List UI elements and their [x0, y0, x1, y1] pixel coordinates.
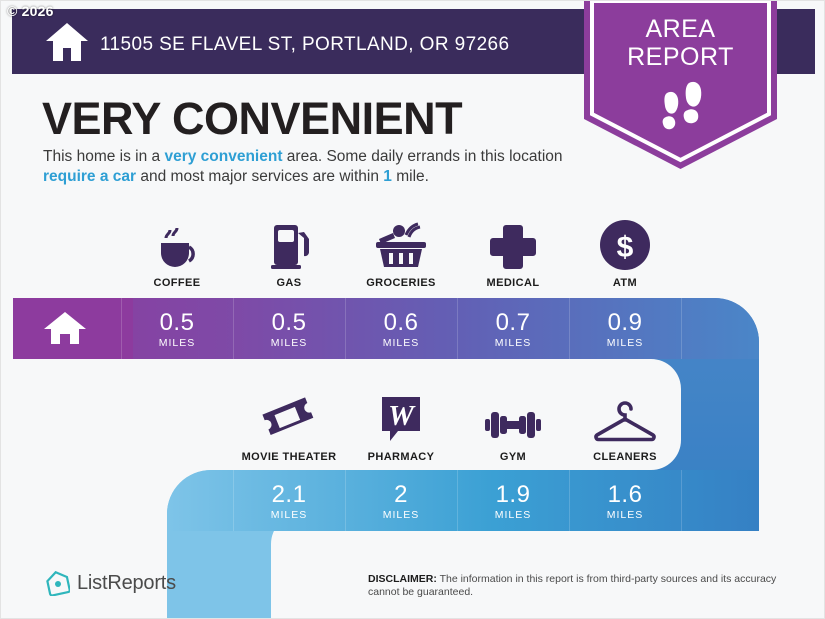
dollar-circle-icon: $: [569, 213, 681, 271]
area-report-badge: AREA REPORT: [584, 1, 777, 171]
svg-text:W: W: [388, 400, 416, 432]
row1-value-gas: 0.5 MILES: [233, 310, 345, 349]
row1-value-atm-unit: MILES: [569, 337, 681, 349]
home-icon: [43, 312, 87, 346]
row1-value-gas-unit: MILES: [233, 337, 345, 349]
row1-cell-gas: GAS: [233, 213, 345, 289]
row1-value-atm-number: 0.9: [569, 310, 681, 336]
coffee-icon: [121, 213, 233, 271]
row2-label-cleaners: CLEANERS: [569, 451, 681, 463]
svg-text:$: $: [617, 231, 634, 264]
row1-value-coffee-number: 0.5: [121, 310, 233, 336]
row1-label-gas: GAS: [233, 277, 345, 289]
gas-pump-icon: [233, 213, 345, 271]
row2-value-gym-unit: MILES: [457, 509, 569, 521]
row2-value-cleaners-unit: MILES: [569, 509, 681, 521]
movie-ticket-icon: [233, 387, 345, 445]
row1-value-gas-number: 0.5: [233, 310, 345, 336]
area-report-infographic: 11505 SE FLAVEL ST, PORTLAND, OR 97266 ©…: [0, 0, 825, 619]
row2-value-movie-theater-number: 2.1: [233, 482, 345, 508]
row2-value-cleaners: 1.6 MILES: [569, 482, 681, 521]
row1-cell-atm: $ ATM: [569, 213, 681, 289]
row2-value-pharmacy-number: 2: [345, 482, 457, 508]
row2-value-gym: 1.9 MILES: [457, 482, 569, 521]
row2-label-gym: GYM: [457, 451, 569, 463]
row1-cell-medical: MEDICAL: [457, 213, 569, 289]
listreports-logo: ListReports: [46, 570, 176, 596]
row1-label-groceries: GROCERIES: [345, 277, 457, 289]
hanger-icon: [569, 387, 681, 445]
badge-line-1: AREA: [645, 15, 715, 43]
row2-value-row: 2.1 MILES 2 MILES 1.9 MILES 1.6 MILES: [1, 470, 825, 531]
row2-label-pharmacy: PHARMACY: [345, 451, 457, 463]
row1-cell-groceries: GROCERIES: [345, 213, 457, 289]
row2-cell-movie-theater: MOVIE THEATER: [233, 387, 345, 463]
row2-value-movie-theater: 2.1 MILES: [233, 482, 345, 521]
row1-value-medical-unit: MILES: [457, 337, 569, 349]
row1-value-groceries-unit: MILES: [345, 337, 457, 349]
walgreens-w-icon: W: [345, 387, 457, 445]
row1-cell-coffee: COFFEE: [121, 213, 233, 289]
row1-value-coffee: 0.5 MILES: [121, 310, 233, 349]
row2-value-movie-theater-unit: MILES: [233, 509, 345, 521]
row1-value-medical-number: 0.7: [457, 310, 569, 336]
row2-label-movie-theater: MOVIE THEATER: [233, 451, 345, 463]
row1-label-medical: MEDICAL: [457, 277, 569, 289]
row2-icon-row: MOVIE THEATER W PHARMACY: [233, 387, 681, 463]
row1-value-medical: 0.7 MILES: [457, 310, 569, 349]
badge-label: AREA REPORT: [584, 15, 777, 71]
disclaimer-text: DISCLAIMER: The information in this repo…: [368, 573, 788, 599]
badge-line-2: REPORT: [627, 43, 734, 71]
row2-value-gym-number: 1.9: [457, 482, 569, 508]
row1-icon-row: COFFEE GAS: [121, 213, 681, 289]
row1-label-coffee: COFFEE: [121, 277, 233, 289]
medical-cross-icon: [457, 213, 569, 271]
row2-value-pharmacy-unit: MILES: [345, 509, 457, 521]
row1-value-groceries: 0.6 MILES: [345, 310, 457, 349]
row1-value-atm: 0.9 MILES: [569, 310, 681, 349]
row2-cell-gym: GYM: [457, 387, 569, 463]
row1-value-coffee-unit: MILES: [121, 337, 233, 349]
row2-cell-pharmacy: W PHARMACY: [345, 387, 457, 463]
copyright-label: © 2026: [7, 3, 54, 19]
dumbbell-icon: [457, 387, 569, 445]
row2-cell-cleaners: CLEANERS: [569, 387, 681, 463]
row1-label-atm: ATM: [569, 277, 681, 289]
row2-value-pharmacy: 2 MILES: [345, 482, 457, 521]
listreports-logo-icon: [46, 570, 70, 596]
row2-value-cleaners-number: 1.6: [569, 482, 681, 508]
disclaimer-label: DISCLAIMER:: [368, 573, 437, 585]
row1-value-row: 0.5 MILES 0.5 MILES 0.6 MILES 0.7 MILES …: [1, 298, 825, 359]
row1-value-groceries-number: 0.6: [345, 310, 457, 336]
listreports-logo-text: ListReports: [77, 572, 176, 595]
basket-icon: [345, 213, 457, 271]
